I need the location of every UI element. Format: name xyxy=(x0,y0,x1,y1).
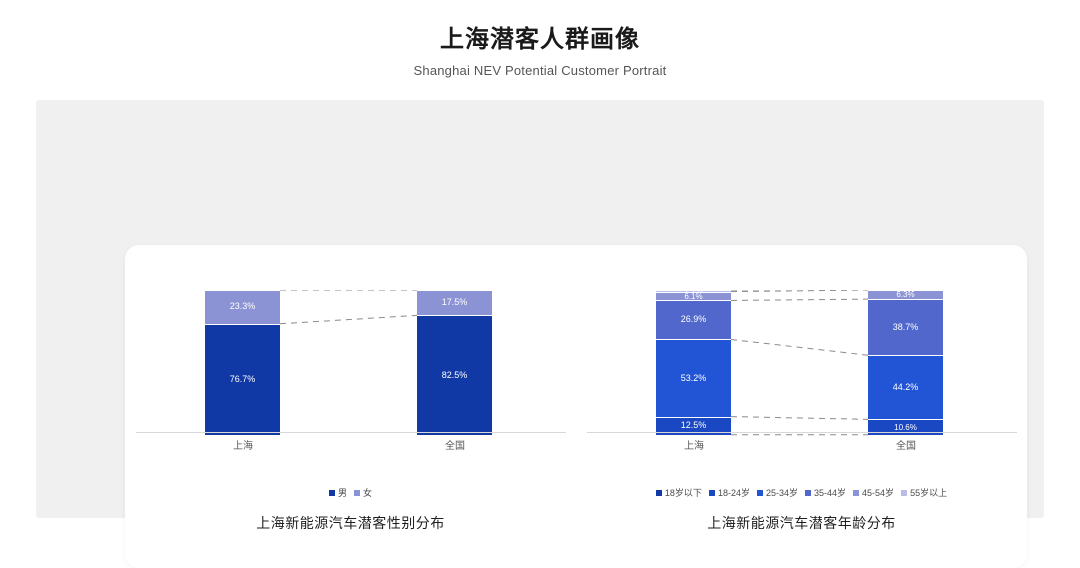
age-chart-caption: 上海新能源汽车潜客年龄分布 xyxy=(576,513,1027,533)
legend-swatch-icon xyxy=(757,490,763,496)
age-tick-label-national: 全国 xyxy=(851,437,961,452)
page-header: 上海潜客人群画像 Shanghai NEV Potential Customer… xyxy=(0,24,1080,80)
age-chart-legend-item[interactable]: 18-24岁 xyxy=(709,486,750,499)
legend-swatch-icon xyxy=(805,490,811,496)
age-chart-legend: 18岁以下18-24岁25-34岁35-44岁45-54岁55岁以上 xyxy=(576,486,1027,499)
age-bar-shanghai[interactable]: 0.2%12.5%53.2%26.9%6.1%1.1% xyxy=(656,290,731,435)
age-tick-label-shanghai: 上海 xyxy=(639,437,749,452)
legend-swatch-icon xyxy=(656,490,662,496)
charts-card: 76.7%23.3% 82.5%17.5% 上海 全国 男女 上海新能源汽车潜客… xyxy=(125,245,1027,568)
gender-chart-value-label: 23.3% xyxy=(205,301,280,312)
gender-bar-national[interactable]: 82.5%17.5% xyxy=(417,290,492,435)
age-chart-legend-label: 45-54岁 xyxy=(862,486,894,499)
age-chart-block: 0.2%12.5%53.2%26.9%6.1%1.1% 0.2%10.6%44.… xyxy=(576,245,1027,568)
gender-chart-plot: 76.7%23.3% 82.5%17.5% xyxy=(125,290,576,435)
gender-chart-legend-label: 男 xyxy=(338,486,347,499)
gender-tick-label-national: 全国 xyxy=(400,437,510,452)
gender-chart-value-label: 76.7% xyxy=(205,374,280,385)
legend-swatch-icon xyxy=(329,490,335,496)
gender-chart-value-label: 17.5% xyxy=(417,297,492,308)
age-chart-value-label: 1.1% xyxy=(656,286,731,295)
age-chart-legend-item[interactable]: 25-34岁 xyxy=(757,486,798,499)
age-chart-value-label: 44.2% xyxy=(868,382,943,393)
age-chart-value-label: 26.9% xyxy=(656,314,731,325)
age-chart-legend-label: 18岁以下 xyxy=(665,486,702,499)
age-chart-value-label: 12.5% xyxy=(656,420,731,431)
age-chart-value-label: 10.6% xyxy=(868,423,943,432)
age-chart-legend-label: 55岁以上 xyxy=(910,486,947,499)
age-chart-legend-label: 25-34岁 xyxy=(766,486,798,499)
age-chart-plot: 0.2%12.5%53.2%26.9%6.1%1.1% 0.2%10.6%44.… xyxy=(576,290,1027,435)
age-chart-legend-item[interactable]: 18岁以下 xyxy=(656,486,702,499)
gender-chart-axis-line xyxy=(136,432,566,433)
legend-swatch-icon xyxy=(709,490,715,496)
gender-chart-legend-label: 女 xyxy=(363,486,372,499)
legend-swatch-icon xyxy=(853,490,859,496)
gender-tick-label-shanghai: 上海 xyxy=(188,437,298,452)
age-chart-legend-label: 18-24岁 xyxy=(718,486,750,499)
age-chart-axis-line xyxy=(587,432,1017,433)
gender-chart-block: 76.7%23.3% 82.5%17.5% 上海 全国 男女 上海新能源汽车潜客… xyxy=(125,245,576,568)
age-chart-legend-label: 35-44岁 xyxy=(814,486,846,499)
gender-chart-legend-item[interactable]: 男 xyxy=(329,486,347,499)
page-subtitle: Shanghai NEV Potential Customer Portrait xyxy=(0,62,1080,80)
age-chart-legend-item[interactable]: 35-44岁 xyxy=(805,486,846,499)
age-chart-legend-item[interactable]: 55岁以上 xyxy=(901,486,947,499)
gender-chart-legend-item[interactable]: 女 xyxy=(354,486,372,499)
gender-chart-value-label: 82.5% xyxy=(417,370,492,381)
age-bar-national[interactable]: 0.2%10.6%44.2%38.7%6.3%0.7% xyxy=(868,290,943,435)
gender-chart-caption: 上海新能源汽车潜客性别分布 xyxy=(125,513,576,533)
age-chart-value-label: 38.7% xyxy=(868,322,943,333)
page-title: 上海潜客人群画像 xyxy=(0,24,1080,56)
charts-row: 76.7%23.3% 82.5%17.5% 上海 全国 男女 上海新能源汽车潜客… xyxy=(125,245,1027,568)
legend-swatch-icon xyxy=(901,490,907,496)
age-chart-legend-item[interactable]: 45-54岁 xyxy=(853,486,894,499)
legend-swatch-icon xyxy=(354,490,360,496)
age-chart-value-label: 53.2% xyxy=(656,373,731,384)
gender-chart-legend: 男女 xyxy=(125,486,576,499)
age-chart-value-label: 0.7% xyxy=(868,285,943,294)
gender-bar-shanghai[interactable]: 76.7%23.3% xyxy=(205,290,280,435)
outer-card-panel: 76.7%23.3% 82.5%17.5% 上海 全国 男女 上海新能源汽车潜客… xyxy=(36,100,1044,518)
